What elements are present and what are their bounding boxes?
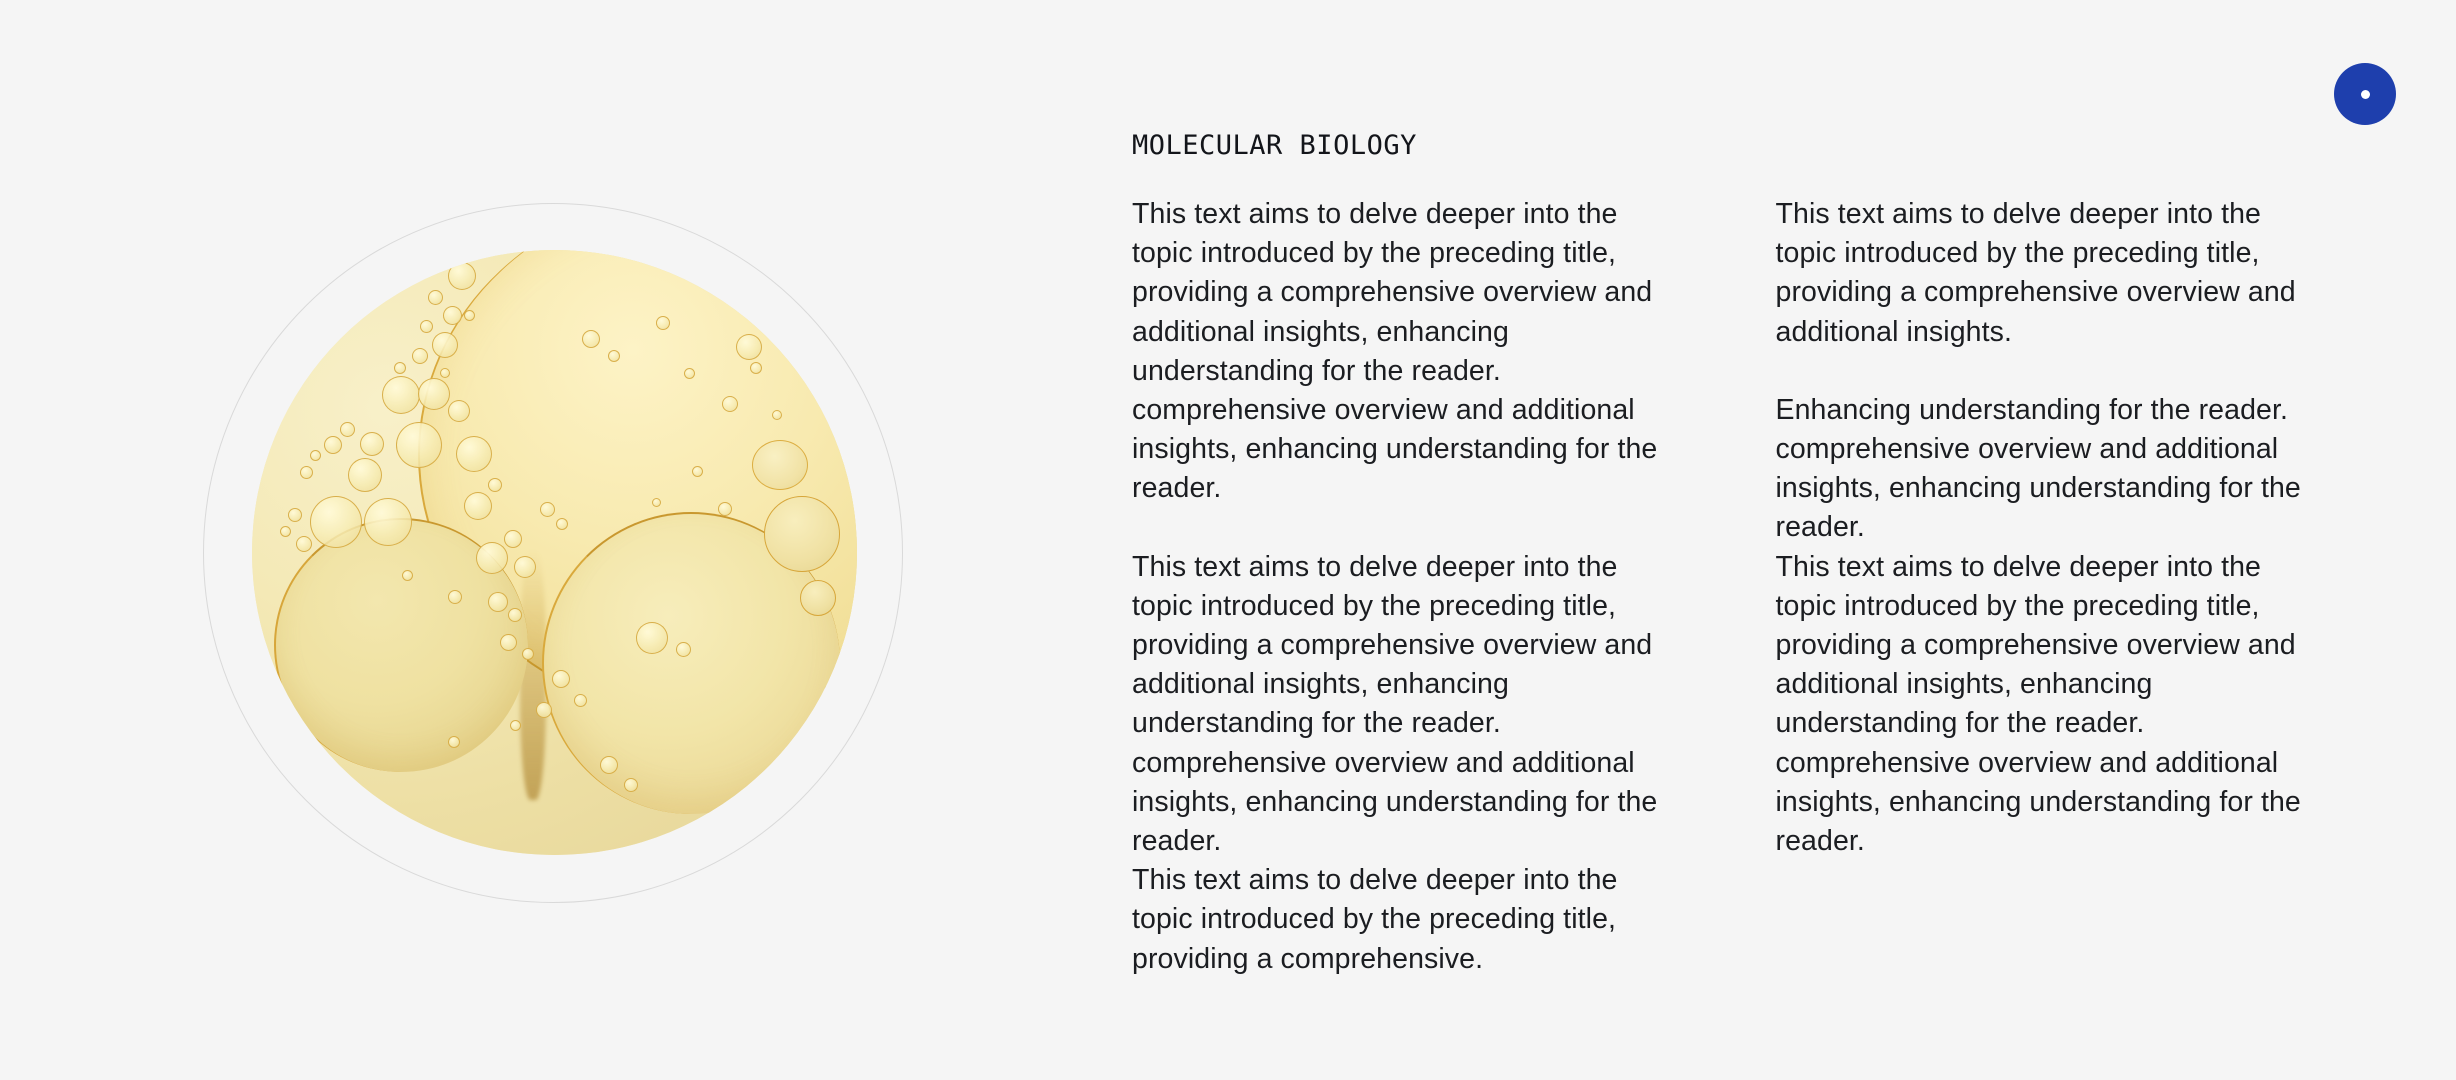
oil-bubble xyxy=(536,702,552,718)
oil-bubble xyxy=(718,502,732,516)
oil-bubble xyxy=(636,622,668,654)
text-column-1: This text aims to delve deeper into the … xyxy=(1132,195,1669,979)
oil-bubble xyxy=(722,396,738,412)
oil-bubble xyxy=(750,362,762,374)
text-columns: This text aims to delve deeper into the … xyxy=(1132,195,2312,979)
oil-bubble xyxy=(624,778,638,792)
oil-bubble xyxy=(412,348,428,364)
oil-bubble xyxy=(488,592,508,612)
oil-bubble xyxy=(432,332,458,358)
oil-bubble xyxy=(296,536,312,552)
oil-bubble xyxy=(514,556,536,578)
oil-bubble xyxy=(288,508,302,522)
oil-bubble xyxy=(488,478,502,492)
paragraph: This text aims to delve deeper into the … xyxy=(1132,195,1669,509)
paragraph: This text aims to delve deeper into the … xyxy=(1776,548,2313,862)
oil-bubble xyxy=(464,310,475,321)
oil-bubble xyxy=(464,492,492,520)
oil-bubble xyxy=(280,526,291,537)
oil-bubble xyxy=(310,496,362,548)
oil-bubble xyxy=(418,378,450,410)
oil-bubble xyxy=(656,316,670,330)
oil-bubble xyxy=(608,350,620,362)
oil-bubble xyxy=(402,570,413,581)
circular-media xyxy=(203,203,903,903)
oil-bubble xyxy=(684,368,695,379)
oil-bubble xyxy=(574,694,587,707)
oil-droplet-right-3 xyxy=(752,440,808,490)
oil-bubble xyxy=(510,720,521,731)
paragraph: This text aims to delve deeper into the … xyxy=(1132,861,1669,979)
record-indicator-badge[interactable] xyxy=(2334,63,2396,125)
record-dot-icon xyxy=(2361,90,2370,99)
oil-bubble xyxy=(500,634,517,651)
paragraph: This text aims to delve deeper into the … xyxy=(1132,548,1669,862)
oil-bubble xyxy=(652,498,661,507)
paragraph: This text aims to delve deeper into the … xyxy=(1776,195,2313,352)
oil-bubble xyxy=(443,306,462,325)
oil-bubble xyxy=(360,432,384,456)
oil-bubble xyxy=(692,466,703,477)
oil-bubble xyxy=(772,410,782,420)
oil-bubble xyxy=(448,736,460,748)
text-column-2: This text aims to delve deeper into the … xyxy=(1776,195,2313,979)
oil-bubble xyxy=(448,590,462,604)
oil-bubble xyxy=(340,422,355,437)
oil-droplet-right-2 xyxy=(800,580,836,616)
oil-bubble xyxy=(522,648,534,660)
oil-bubble xyxy=(736,334,762,360)
oil-bubble xyxy=(348,458,382,492)
oil-bubble xyxy=(396,422,442,468)
oil-bubble xyxy=(448,262,476,290)
text-content: MOLECULAR BIOLOGY This text aims to delv… xyxy=(1132,130,2312,979)
page-root: MOLECULAR BIOLOGY This text aims to delv… xyxy=(0,0,2456,1080)
oil-bubble xyxy=(310,450,321,461)
oil-bubble xyxy=(394,362,406,374)
oil-bubble xyxy=(508,608,522,622)
oil-bubble xyxy=(540,502,555,517)
oil-bubble xyxy=(456,436,492,472)
oil-bubble xyxy=(382,376,420,414)
oil-bubble xyxy=(364,498,412,546)
oil-bubble xyxy=(504,530,522,548)
paragraph: Enhancing understanding for the reader. … xyxy=(1776,391,2313,548)
oil-bubble xyxy=(324,436,342,454)
oil-bubble xyxy=(600,756,618,774)
oil-bubble xyxy=(300,466,313,479)
oil-photo xyxy=(252,250,857,855)
oil-bubble xyxy=(556,518,568,530)
oil-bubble xyxy=(448,400,470,422)
oil-bubble xyxy=(552,670,570,688)
section-eyebrow: MOLECULAR BIOLOGY xyxy=(1132,130,2312,161)
oil-bubble xyxy=(476,542,508,574)
oil-bubble xyxy=(428,290,443,305)
oil-bubble xyxy=(440,368,450,378)
oil-bubble xyxy=(420,320,433,333)
oil-droplet-right-1 xyxy=(764,496,840,572)
oil-bubble xyxy=(676,642,691,657)
oil-bubble xyxy=(582,330,600,348)
